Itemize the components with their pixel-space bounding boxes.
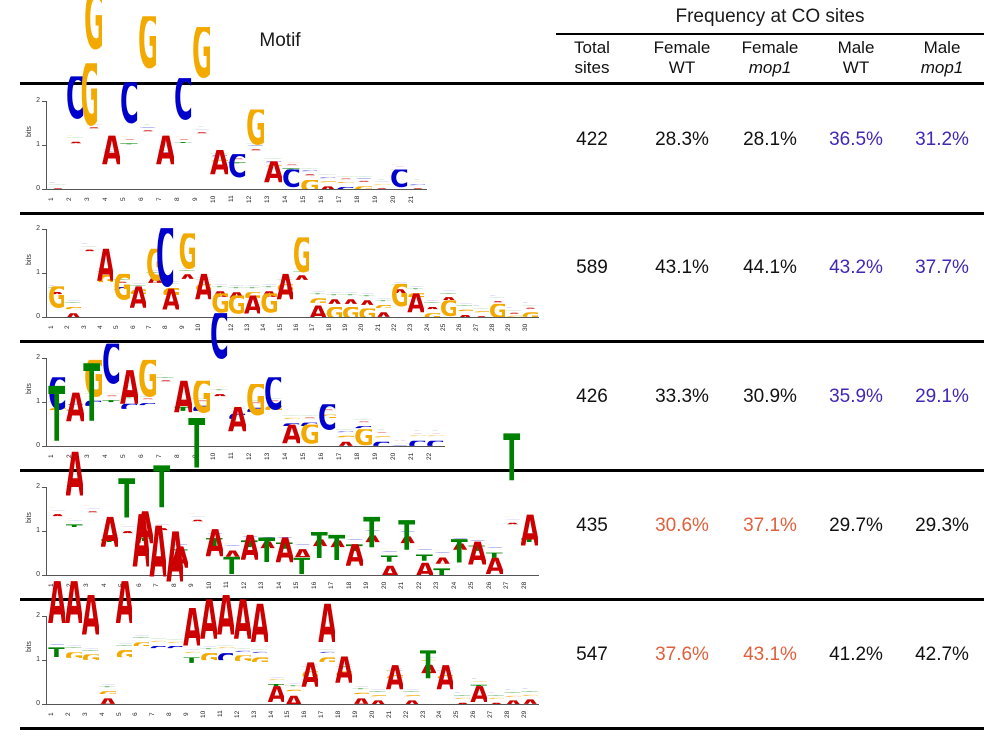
logo-position: TAGC	[372, 358, 390, 446]
logo-position: TCGA	[156, 101, 174, 189]
logo-letter-A: A	[241, 535, 259, 575]
x-axis-tick-label: 21	[398, 577, 416, 593]
cell-female-wt: 30.6%	[640, 515, 724, 537]
logo-position: GTAC	[210, 358, 228, 446]
logo-position: TGCA	[166, 616, 183, 704]
logo-letter-A: A	[300, 175, 318, 176]
x-axis-tick-label: 15	[300, 191, 318, 207]
logo-letter-stack: CTAGCTGACTAGCTGATACGCTGACTAGCTGACTAGCTGA…	[48, 229, 538, 317]
x-axis-tick-label: 13	[251, 706, 268, 722]
logo-position: TAGC	[264, 358, 282, 446]
logo-position: TACG	[138, 358, 156, 446]
logo-position: GCAT	[293, 487, 311, 575]
logo-letter-G: G	[352, 693, 369, 695]
x-axis-tick-label: 4	[99, 706, 116, 722]
logo-letter-G: G	[391, 284, 407, 317]
logo-letter-A: A	[195, 274, 211, 317]
x-axis-ticks: 123456789101112131415161718192021	[48, 191, 426, 207]
y-axis-tick	[42, 660, 47, 661]
x-axis-tick-label: 26	[470, 706, 487, 722]
x-axis-tick-label: 10	[200, 706, 217, 722]
x-axis-tick-label: 28	[521, 577, 539, 593]
logo-letter-A: A	[470, 687, 487, 704]
logo-position: CTAG	[424, 229, 440, 317]
logo-position: GCAT	[433, 487, 451, 575]
x-axis-tick-label: 6	[138, 191, 156, 207]
logo-position: GCAT	[503, 487, 521, 575]
logo-position: GCTA	[346, 487, 364, 575]
y-axis-label: bits	[26, 512, 33, 523]
x-axis-tick-label: 11	[223, 577, 241, 593]
logo-letter-C: C	[318, 177, 336, 178]
logo-letter-A: A	[381, 566, 399, 575]
x-axis-tick-label: 6	[132, 706, 149, 722]
logo-position: TAGC	[426, 358, 444, 446]
logo-letter-stack: GCTACTGACTGACTGACTGACTGATGCATGCACGTACTGA…	[48, 616, 538, 704]
logo-position: TCGA	[210, 101, 228, 189]
logo-position: GCTA	[381, 487, 399, 575]
logo-letter-stack: GCATGCTAGCATGCTAGCATGCTAGCATGCTAGCATGCTA…	[48, 487, 538, 575]
y-axis-tick	[42, 616, 47, 617]
logo-letter-G: G	[318, 181, 336, 182]
x-axis-tick-label: 14	[276, 577, 294, 593]
logo-position: GATC	[390, 101, 408, 189]
column-header-line1: Male	[900, 38, 984, 58]
x-axis-tick-label: 16	[311, 577, 329, 593]
logo-position: CGTA	[183, 616, 200, 704]
logo-letter-G: G	[293, 237, 309, 317]
x-axis-tick-label: 20	[369, 706, 386, 722]
x-axis-tick-label: 23	[433, 577, 451, 593]
x-axis-tick-label: 3	[82, 706, 99, 722]
x-axis-tick-label: 7	[156, 448, 174, 464]
x-axis-tick-label: 19	[352, 706, 369, 722]
y-axis-tick-label: 0	[28, 185, 40, 192]
x-axis-tick-label: 1	[48, 191, 66, 207]
logo-letter-A: A	[486, 558, 504, 575]
logo-position: TAGC	[390, 358, 408, 446]
logo-position: CTAG	[440, 229, 456, 317]
logo-letter-G: G	[138, 16, 156, 189]
frequency-header-rule	[556, 33, 984, 35]
cell-male-wt: 43.2%	[816, 257, 896, 279]
x-axis-tick-label: 2	[65, 706, 82, 722]
logo-letter-A: A	[116, 582, 133, 704]
x-axis-tick-label: 17	[328, 577, 346, 593]
logo-position: GCTA	[66, 358, 84, 446]
logo-position: CTAG	[179, 229, 195, 317]
logo-letter-A: A	[489, 301, 505, 302]
logo-position: CTGA	[369, 616, 386, 704]
logo-letter-G: G	[300, 180, 318, 189]
logo-position: TACG	[300, 358, 318, 446]
x-axis-tick-label: 20	[358, 319, 374, 335]
logo-letter-A: A	[326, 299, 342, 304]
logo-position: GCAT	[398, 487, 416, 575]
logo-position: CTGA	[386, 616, 403, 704]
logo-letter-T: T	[433, 568, 451, 575]
logo-letter-A: A	[102, 136, 120, 189]
logo-position: GTCA	[228, 358, 246, 446]
table-row: 012bitsGCTACTGACTGACTGACTGACTGATGCATGCAC…	[0, 600, 1000, 728]
logo-position: GCTA	[276, 487, 294, 575]
column-header-line2: mop1	[728, 58, 812, 78]
cell-female-mop1: 30.9%	[728, 386, 812, 408]
x-axis-tick-label: 24	[436, 706, 453, 722]
y-axis-tick	[42, 402, 47, 403]
logo-position: CTGA	[309, 229, 325, 317]
logo-letter-G: G	[354, 430, 372, 446]
x-axis-tick-label: 12	[241, 577, 259, 593]
logo-letter-G: G	[426, 436, 444, 437]
logo-letter-T: T	[342, 294, 358, 295]
logo-letter-T: T	[486, 552, 504, 557]
logo-position: CGAT	[420, 616, 437, 704]
x-axis-tick-label: 9	[188, 577, 206, 593]
logo-letter-T: T	[309, 294, 325, 295]
logo-position: CTGA	[64, 229, 80, 317]
cell-female-wt: 43.1%	[640, 257, 724, 279]
logo-baseline	[47, 704, 539, 705]
logo-position: CGTA	[470, 616, 487, 704]
logo-letter-A: A	[82, 595, 99, 704]
logo-position: GCAT	[48, 487, 66, 575]
logo-letter-T: T	[326, 294, 342, 295]
x-axis-tick-label: 19	[372, 191, 390, 207]
logo-letter-stack: GCTAGTACTCAGTCGAGATCTCAGTCGAGATCTCAGTCGA…	[48, 101, 426, 189]
x-axis-tick-label: 19	[363, 577, 381, 593]
x-axis-tick-label: 6	[130, 319, 146, 335]
y-axis-tick-label: 0	[28, 571, 40, 578]
logo-letter-A: A	[505, 313, 521, 314]
x-axis-tick-label: 14	[260, 319, 276, 335]
x-axis-tick-label: 16	[301, 706, 318, 722]
logo-letter-T: T	[398, 520, 416, 575]
y-axis-tick-label: 0	[28, 442, 40, 449]
x-axis-tick-label: 24	[424, 319, 440, 335]
cell-male-wt: 29.7%	[816, 515, 896, 537]
x-axis-tick-label: 23	[420, 706, 437, 722]
y-axis-label: bits	[26, 641, 33, 652]
logo-position: GCAT	[223, 487, 241, 575]
x-axis-tick-label: 17	[336, 191, 354, 207]
logo-letter-A: A	[130, 287, 146, 317]
x-axis-tick-label: 14	[282, 448, 300, 464]
logo-position: TGCA	[149, 616, 166, 704]
logo-letter-T: T	[328, 535, 346, 575]
x-axis-tick-label: 18	[326, 319, 342, 335]
logo-letter-T: T	[352, 689, 369, 690]
logo-position: CTAG	[522, 229, 538, 317]
logo-letter-A: A	[293, 549, 311, 557]
x-axis-tick-label: 29	[505, 319, 521, 335]
x-axis-tick-label: 7	[156, 191, 174, 207]
x-axis-tick-label: 15	[300, 448, 318, 464]
logo-position: GCTA	[416, 487, 434, 575]
logo-letter-T: T	[188, 418, 206, 575]
logo-position: TCGA	[264, 101, 282, 189]
y-axis-tick-label: 2	[28, 225, 40, 232]
logo-letter-C: C	[336, 431, 354, 432]
x-axis-tick-label: 3	[81, 319, 97, 335]
x-axis-tick-label: 24	[451, 577, 469, 593]
logo-position: GCTA	[468, 487, 486, 575]
x-axis-tick-label: 4	[102, 448, 120, 464]
logo-position: GCTA	[66, 487, 84, 575]
logo-position: TGCA	[282, 358, 300, 446]
logo-letter-A: A	[66, 393, 84, 446]
x-axis-tick-label: 4	[97, 319, 113, 335]
cell-male-wt: 35.9%	[816, 386, 896, 408]
logo-position: TACG	[113, 229, 129, 317]
logo-position: CTGA	[132, 616, 149, 704]
x-axis-tick-label: 11	[228, 448, 246, 464]
y-axis-tick-label: 1	[28, 527, 40, 534]
logo-letter-G: G	[403, 695, 420, 696]
y-axis-tick-label: 1	[28, 398, 40, 405]
x-axis-tick-label: 10	[206, 577, 224, 593]
x-axis-tick-label: 22	[426, 448, 444, 464]
logo-position: CTGA	[453, 616, 470, 704]
logo-position: GATC	[282, 101, 300, 189]
logo-letter-A: A	[210, 150, 228, 189]
column-header-0: Totalsites	[556, 38, 628, 78]
logo-letter-A: A	[521, 514, 539, 575]
logo-letter-G: G	[246, 110, 264, 189]
logo-letter-A: A	[200, 599, 217, 704]
cell-female-mop1: 43.1%	[728, 644, 812, 666]
x-axis-tick-label: 20	[390, 191, 408, 207]
logo-baseline	[47, 446, 445, 447]
column-header-line1: Total	[556, 38, 628, 58]
column-header-line1: Female	[640, 38, 724, 58]
logo-letter-A: A	[354, 422, 372, 423]
logo-letter-A: A	[244, 295, 260, 317]
x-axis-tick-label: 22	[391, 319, 407, 335]
logo-letter-A: A	[156, 136, 174, 189]
logo-letter-T: T	[284, 686, 301, 687]
logo-position: CTAG	[505, 229, 521, 317]
column-header-4: Malemop1	[900, 38, 984, 78]
logo-letter-C: C	[120, 83, 138, 189]
x-axis-tick-label: 5	[120, 191, 138, 207]
logo-position: GTCA	[120, 358, 138, 446]
logo-letter-A: A	[101, 517, 119, 575]
logo-letter-C: C	[282, 169, 300, 189]
logo-letter-C: C	[390, 169, 408, 189]
logo-letter-A: A	[282, 424, 300, 446]
logo-position: CTAG	[260, 229, 276, 317]
x-axis-tick-label: 15	[293, 577, 311, 593]
logo-letter-A: A	[342, 299, 358, 304]
logo-position: CTAG	[358, 229, 374, 317]
logo-letter-G: G	[48, 287, 64, 317]
x-axis-tick-label: 22	[403, 706, 420, 722]
logo-position: CTAG	[326, 229, 342, 317]
x-axis-tick-label: 18	[346, 577, 364, 593]
x-axis-ticks: 1234567891011121314151617181920212223242…	[48, 319, 538, 335]
x-axis-tick-label: 1	[48, 706, 65, 722]
cell-male-mop1: 42.7%	[900, 644, 984, 666]
logo-position: GCAT	[451, 487, 469, 575]
y-axis-tick	[42, 101, 47, 102]
logo-letter-A: A	[251, 604, 268, 704]
x-axis-tick-label: 6	[138, 448, 156, 464]
x-axis-tick-label: 10	[210, 448, 228, 464]
logo-letter-A: A	[65, 582, 82, 704]
logo-position: CTGA	[375, 229, 391, 317]
logo-letter-A: A	[336, 178, 354, 179]
cell-total-sites: 422	[556, 129, 628, 151]
logo-letter-T: T	[311, 532, 329, 575]
logo-letter-G: G	[369, 695, 386, 696]
logo-position: CTGA	[301, 616, 318, 704]
logo-letter-G: G	[179, 234, 195, 317]
x-axis-tick-label: 11	[228, 191, 246, 207]
logo-letter-A: A	[264, 161, 282, 189]
logo-letter-A: A	[309, 305, 325, 317]
x-axis-tick-label: 3	[83, 577, 101, 593]
x-axis-tick-label: 27	[503, 577, 521, 593]
x-axis-tick-label: 12	[246, 191, 264, 207]
logo-position: CTGA	[407, 229, 423, 317]
x-axis-tick-label: 7	[149, 706, 166, 722]
logo-position: TCGA	[234, 616, 251, 704]
logo-position: GCTA	[486, 487, 504, 575]
logo-letter-A: A	[407, 293, 423, 317]
x-axis-tick-label: 13	[264, 448, 282, 464]
y-axis-tick-label: 2	[28, 97, 40, 104]
logo-letter-A: A	[66, 452, 84, 575]
logo-position: CTGA	[97, 229, 113, 317]
logo-letter-A: A	[149, 525, 166, 704]
logo-letter-T: T	[244, 287, 260, 288]
table-row: 012bitsCTAGCTGACTAGCTGATACGCTGACTAGCTGAC…	[0, 213, 1000, 341]
logo-letter-G: G	[440, 301, 456, 317]
x-axis-tick-label: 27	[473, 319, 489, 335]
logo-letter-C: C	[156, 228, 174, 446]
logo-position: GCTA	[101, 487, 119, 575]
logo-letter-G: G	[489, 304, 505, 317]
logo-letter-A: A	[386, 665, 403, 704]
y-axis-label: bits	[26, 383, 33, 394]
x-axis-tick-label: 17	[309, 319, 325, 335]
table-row: 012bitsGCTAGTACTCAGTCGAGATCTCAGTCGAGATCT…	[0, 85, 1000, 213]
logo-position: GCAT	[363, 487, 381, 575]
logo-position: CTAG	[342, 229, 358, 317]
y-axis-tick	[42, 531, 47, 532]
logo-position: GATC	[174, 101, 192, 189]
logo-position: TCGA	[372, 101, 390, 189]
column-header-2: Femalemop1	[728, 38, 812, 78]
logo-letter-T: T	[99, 687, 116, 688]
logo-letter-A: A	[228, 407, 246, 446]
x-axis-tick-label: 9	[179, 319, 195, 335]
x-axis-tick-label: 10	[210, 191, 228, 207]
x-axis-tick-label: 26	[486, 577, 504, 593]
logo-baseline	[47, 189, 427, 190]
logo-position: GATC	[228, 101, 246, 189]
x-axis-tick-label: 30	[522, 319, 538, 335]
logo-position: CTGA	[335, 616, 352, 704]
logo-letter-A: A	[97, 248, 113, 317]
motif-frequency-figure: Motif Frequency at CO sites TotalsitesFe…	[0, 0, 1000, 744]
logo-position: TAGC	[318, 358, 336, 446]
logo-position: GCAT	[83, 487, 101, 575]
logo-position: CTGA	[473, 229, 489, 317]
logo-position: CTGA	[436, 616, 453, 704]
logo-position: CGTA	[268, 616, 285, 704]
x-axis-tick-label: 19	[342, 319, 358, 335]
cell-total-sites: 589	[556, 257, 628, 279]
y-axis-label: bits	[26, 254, 33, 265]
logo-position: TACG	[246, 358, 264, 446]
logo-letter-G: G	[408, 436, 426, 437]
x-axis-tick-label: 21	[408, 191, 426, 207]
logo-letter-A: A	[282, 165, 300, 166]
logo-position: CTGA	[487, 616, 504, 704]
cell-total-sites: 435	[556, 515, 628, 537]
logo-position: CTGA	[116, 616, 133, 704]
logo-letter-A: A	[276, 537, 294, 575]
logo-letter-G: G	[372, 436, 390, 437]
logo-letter-T: T	[228, 287, 244, 288]
x-axis-tick-label: 5	[116, 706, 133, 722]
logo-position: CTAG	[81, 229, 97, 317]
logo-position: TAGC	[408, 358, 426, 446]
y-axis-tick-label: 2	[28, 483, 40, 490]
logo-letter-A: A	[358, 300, 374, 305]
y-axis-tick	[42, 145, 47, 146]
logo-position: CTGA	[403, 616, 420, 704]
y-axis-tick-label: 0	[28, 700, 40, 707]
logo-letter-G: G	[473, 311, 489, 312]
cell-female-mop1: 44.1%	[728, 257, 812, 279]
logo-position: CTGA	[130, 229, 146, 317]
cell-male-mop1: 31.2%	[900, 129, 984, 151]
logo-letter-T: T	[223, 556, 241, 575]
x-axis-tick-label: 26	[456, 319, 472, 335]
logo-letter-G: G	[326, 307, 342, 317]
x-axis-tick-label: 13	[258, 577, 276, 593]
logo-letter-T: T	[83, 363, 101, 575]
logo-letter-T: T	[211, 287, 227, 288]
logo-position: GCAT	[328, 487, 346, 575]
logo-letter-stack: TAGCGCTATACGGATCGTCATACGGTACGCTATACGGTAC…	[48, 358, 444, 446]
x-axis-tick-label: 1	[48, 319, 64, 335]
logo-letter-A: A	[424, 307, 440, 309]
logo-letter-G: G	[284, 690, 301, 692]
logo-position: CTGA	[521, 616, 538, 704]
y-axis-tick	[42, 229, 47, 230]
logo-position: GCTA	[241, 487, 259, 575]
logo-baseline	[47, 317, 539, 318]
logo-letter-A: A	[206, 529, 224, 575]
x-axis-tick-label: 25	[468, 577, 486, 593]
cell-female-mop1: 28.1%	[728, 129, 812, 151]
logo-position: CTAG	[293, 229, 309, 317]
logo-position: TCGA	[318, 101, 336, 189]
logo-position: GATC	[102, 358, 120, 446]
logo-position: GCTA	[48, 616, 65, 704]
logo-position: CTAG	[211, 229, 227, 317]
logo-letter-A: A	[335, 657, 352, 704]
logo-letter-T: T	[258, 537, 276, 575]
x-axis-tick-label: 21	[386, 706, 403, 722]
logo-baseline	[47, 575, 539, 576]
logo-letter-A: A	[354, 181, 372, 182]
x-axis-ticks: 1234567891011121314151617181920212223242…	[48, 706, 538, 722]
